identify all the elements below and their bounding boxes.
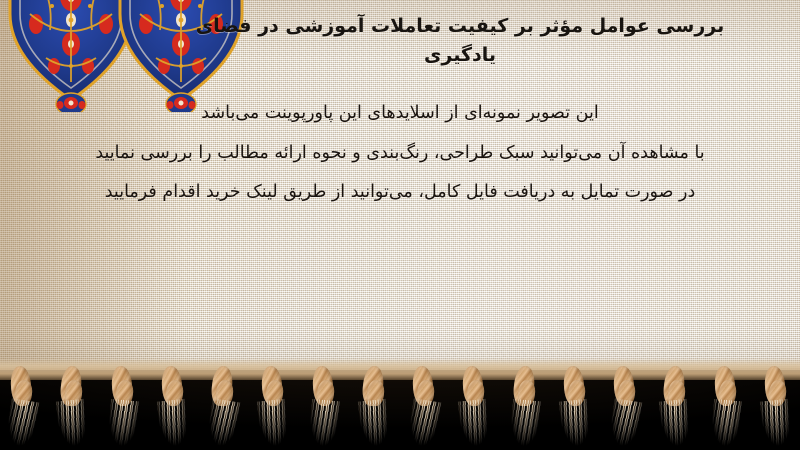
carpet-selvedge-edge — [0, 358, 800, 380]
body-line-2: با مشاهده آن می‌توانید سبک طراحی، رنگ‌بن… — [40, 145, 760, 163]
body-line-1: این تصویر نمونه‌ای از اسلایدهای این پاور… — [40, 105, 760, 123]
presentation-slide: بررسی عوامل مؤثر بر کیفیت تعاملات آموزشی… — [0, 0, 800, 450]
slide-body: این تصویر نمونه‌ای از اسلایدهای این پاور… — [40, 105, 760, 202]
body-line-3: در صورت تمایل به دریافت فایل کامل، می‌تو… — [40, 184, 760, 202]
slide-text-layer: بررسی عوامل مؤثر بر کیفیت تعاملات آموزشی… — [0, 0, 800, 378]
black-lower-band — [0, 370, 800, 450]
slide-title: بررسی عوامل مؤثر بر کیفیت تعاملات آموزشی… — [180, 12, 740, 70]
